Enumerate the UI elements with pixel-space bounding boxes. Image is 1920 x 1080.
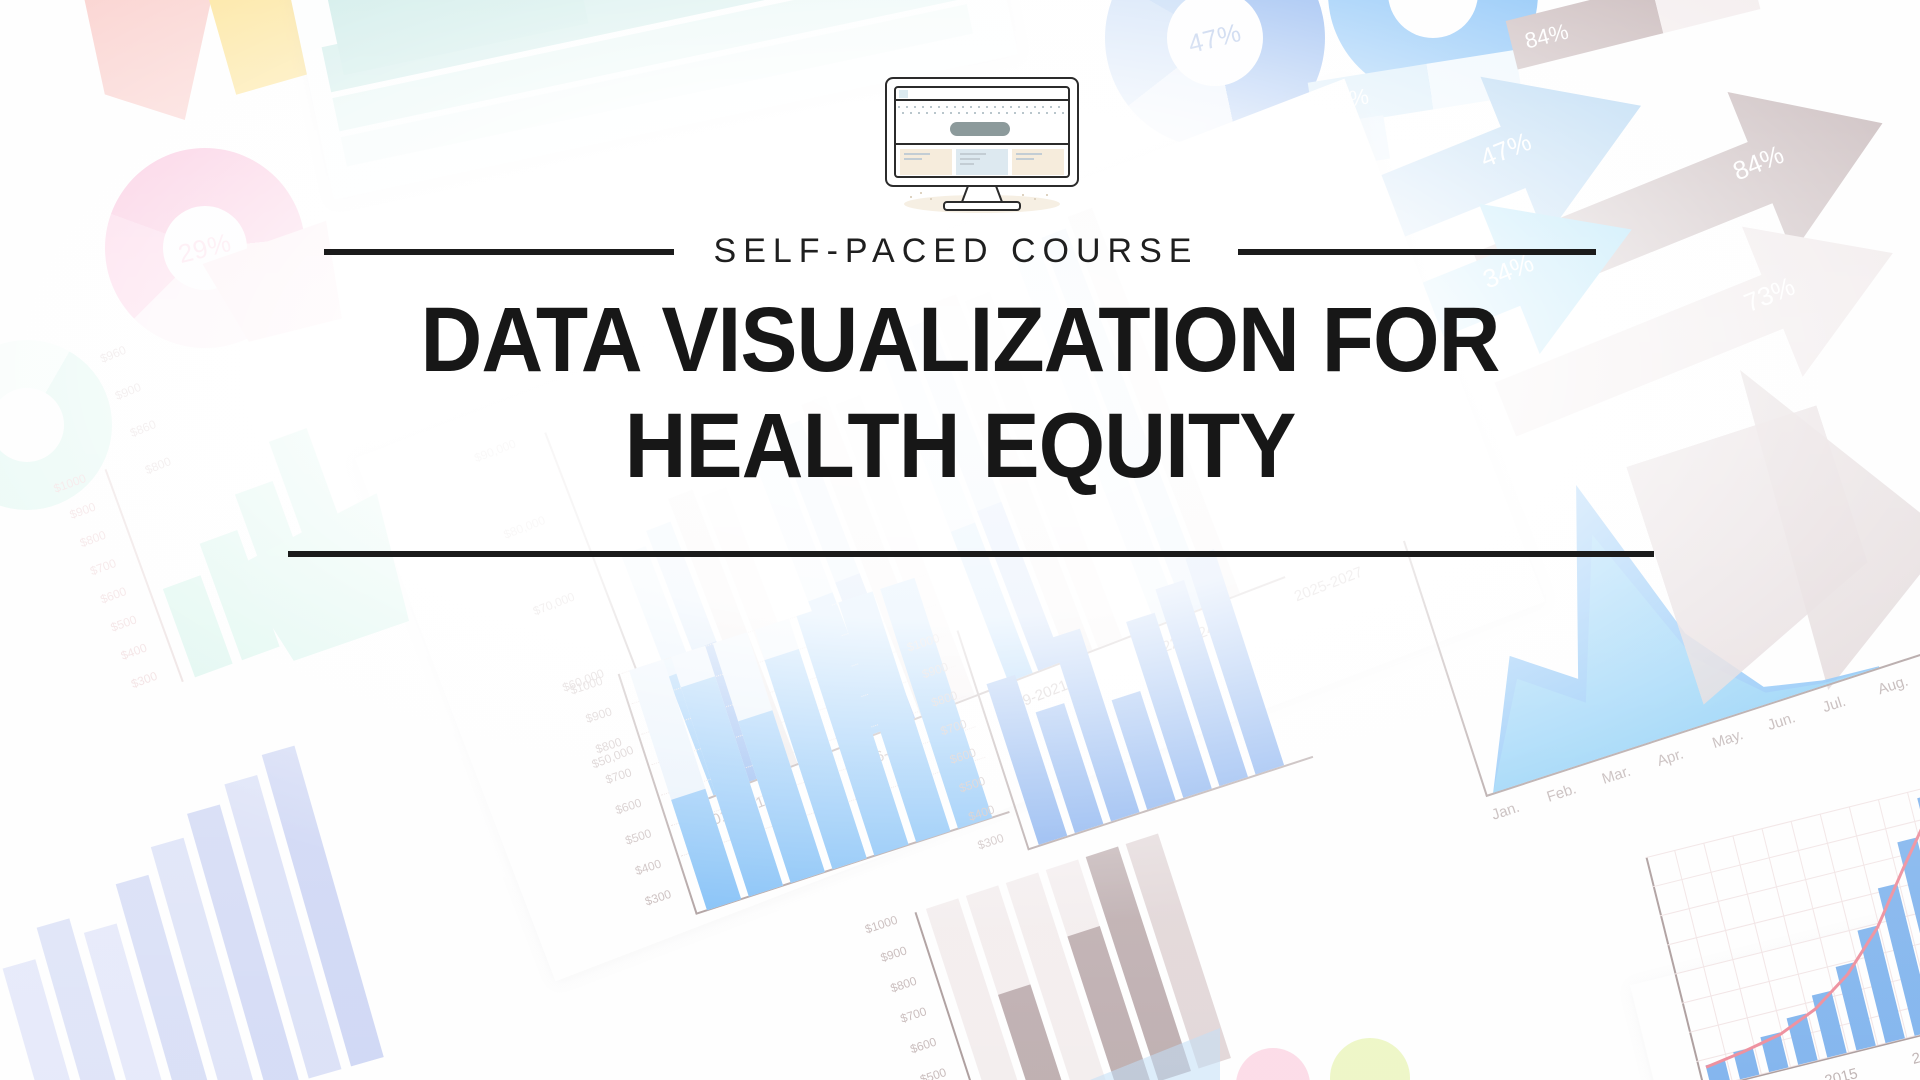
page-title-line-1: DATA VISUALIZATION FOR [67,288,1853,394]
title-bottom-rule [288,551,1654,557]
eyebrow-label: SELF-PACED COURSE [714,232,1199,271]
wireframe-pill-button [950,122,1010,136]
banner-foreground: SELF-PACED COURSE DATA VISUALIZATION FOR… [0,0,1920,1080]
eyebrow-rule-right [1238,249,1596,255]
page-title: DATA VISUALIZATION FOR HEALTH EQUITY [0,288,1920,500]
banner-canvas: balance 2,938,090 29% 47% 34% [0,0,1920,1080]
desktop-monitor-icon [882,76,1082,216]
eyebrow-rule-left [324,249,674,255]
eyebrow-row: SELF-PACED COURSE [0,232,1920,271]
page-title-line-2: HEALTH EQUITY [67,394,1853,500]
